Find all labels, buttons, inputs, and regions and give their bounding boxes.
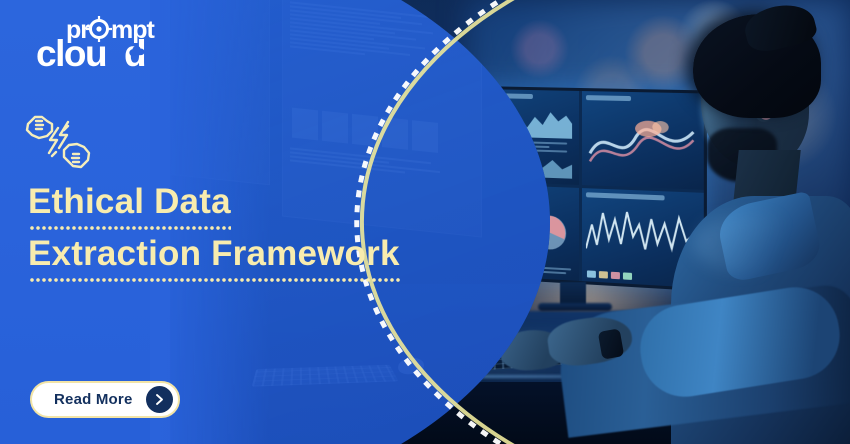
legend-swatch — [622, 272, 631, 280]
fist-bump-icon-art — [22, 108, 94, 174]
svg-text:clou: clou — [36, 33, 106, 74]
promotional-banner: pr mpt clou d — [0, 0, 850, 444]
data-row — [542, 271, 566, 274]
panel-rows — [542, 267, 573, 275]
panel-header-bar — [585, 95, 630, 101]
page-title: Ethical Data Extraction Framework — [28, 180, 448, 283]
read-more-button[interactable]: Read More — [30, 381, 180, 418]
legend-swatches — [586, 270, 631, 280]
wristwatch — [598, 328, 625, 359]
read-more-label: Read More — [54, 391, 133, 408]
promptcloud-logo[interactable]: pr mpt clou d — [28, 12, 168, 74]
fist-bump-lightning-icon — [22, 108, 94, 174]
legend-swatch — [598, 271, 607, 279]
panel-header-bar — [585, 192, 664, 200]
legend-swatch — [586, 270, 595, 278]
logo-artwork: pr mpt clou d — [28, 12, 168, 74]
chevron-right-icon[interactable] — [146, 386, 173, 413]
data-row — [542, 267, 571, 271]
legend-swatch — [610, 272, 619, 280]
headline-line-2: Extraction Framework — [28, 232, 400, 283]
person-hair — [693, 14, 821, 118]
shoulder-highlight — [693, 214, 813, 274]
chevron-right-glyph — [154, 393, 165, 406]
monitor-base — [538, 303, 612, 311]
banner-content: pr mpt clou d — [0, 0, 470, 444]
headline-line-1: Ethical Data — [28, 180, 231, 231]
